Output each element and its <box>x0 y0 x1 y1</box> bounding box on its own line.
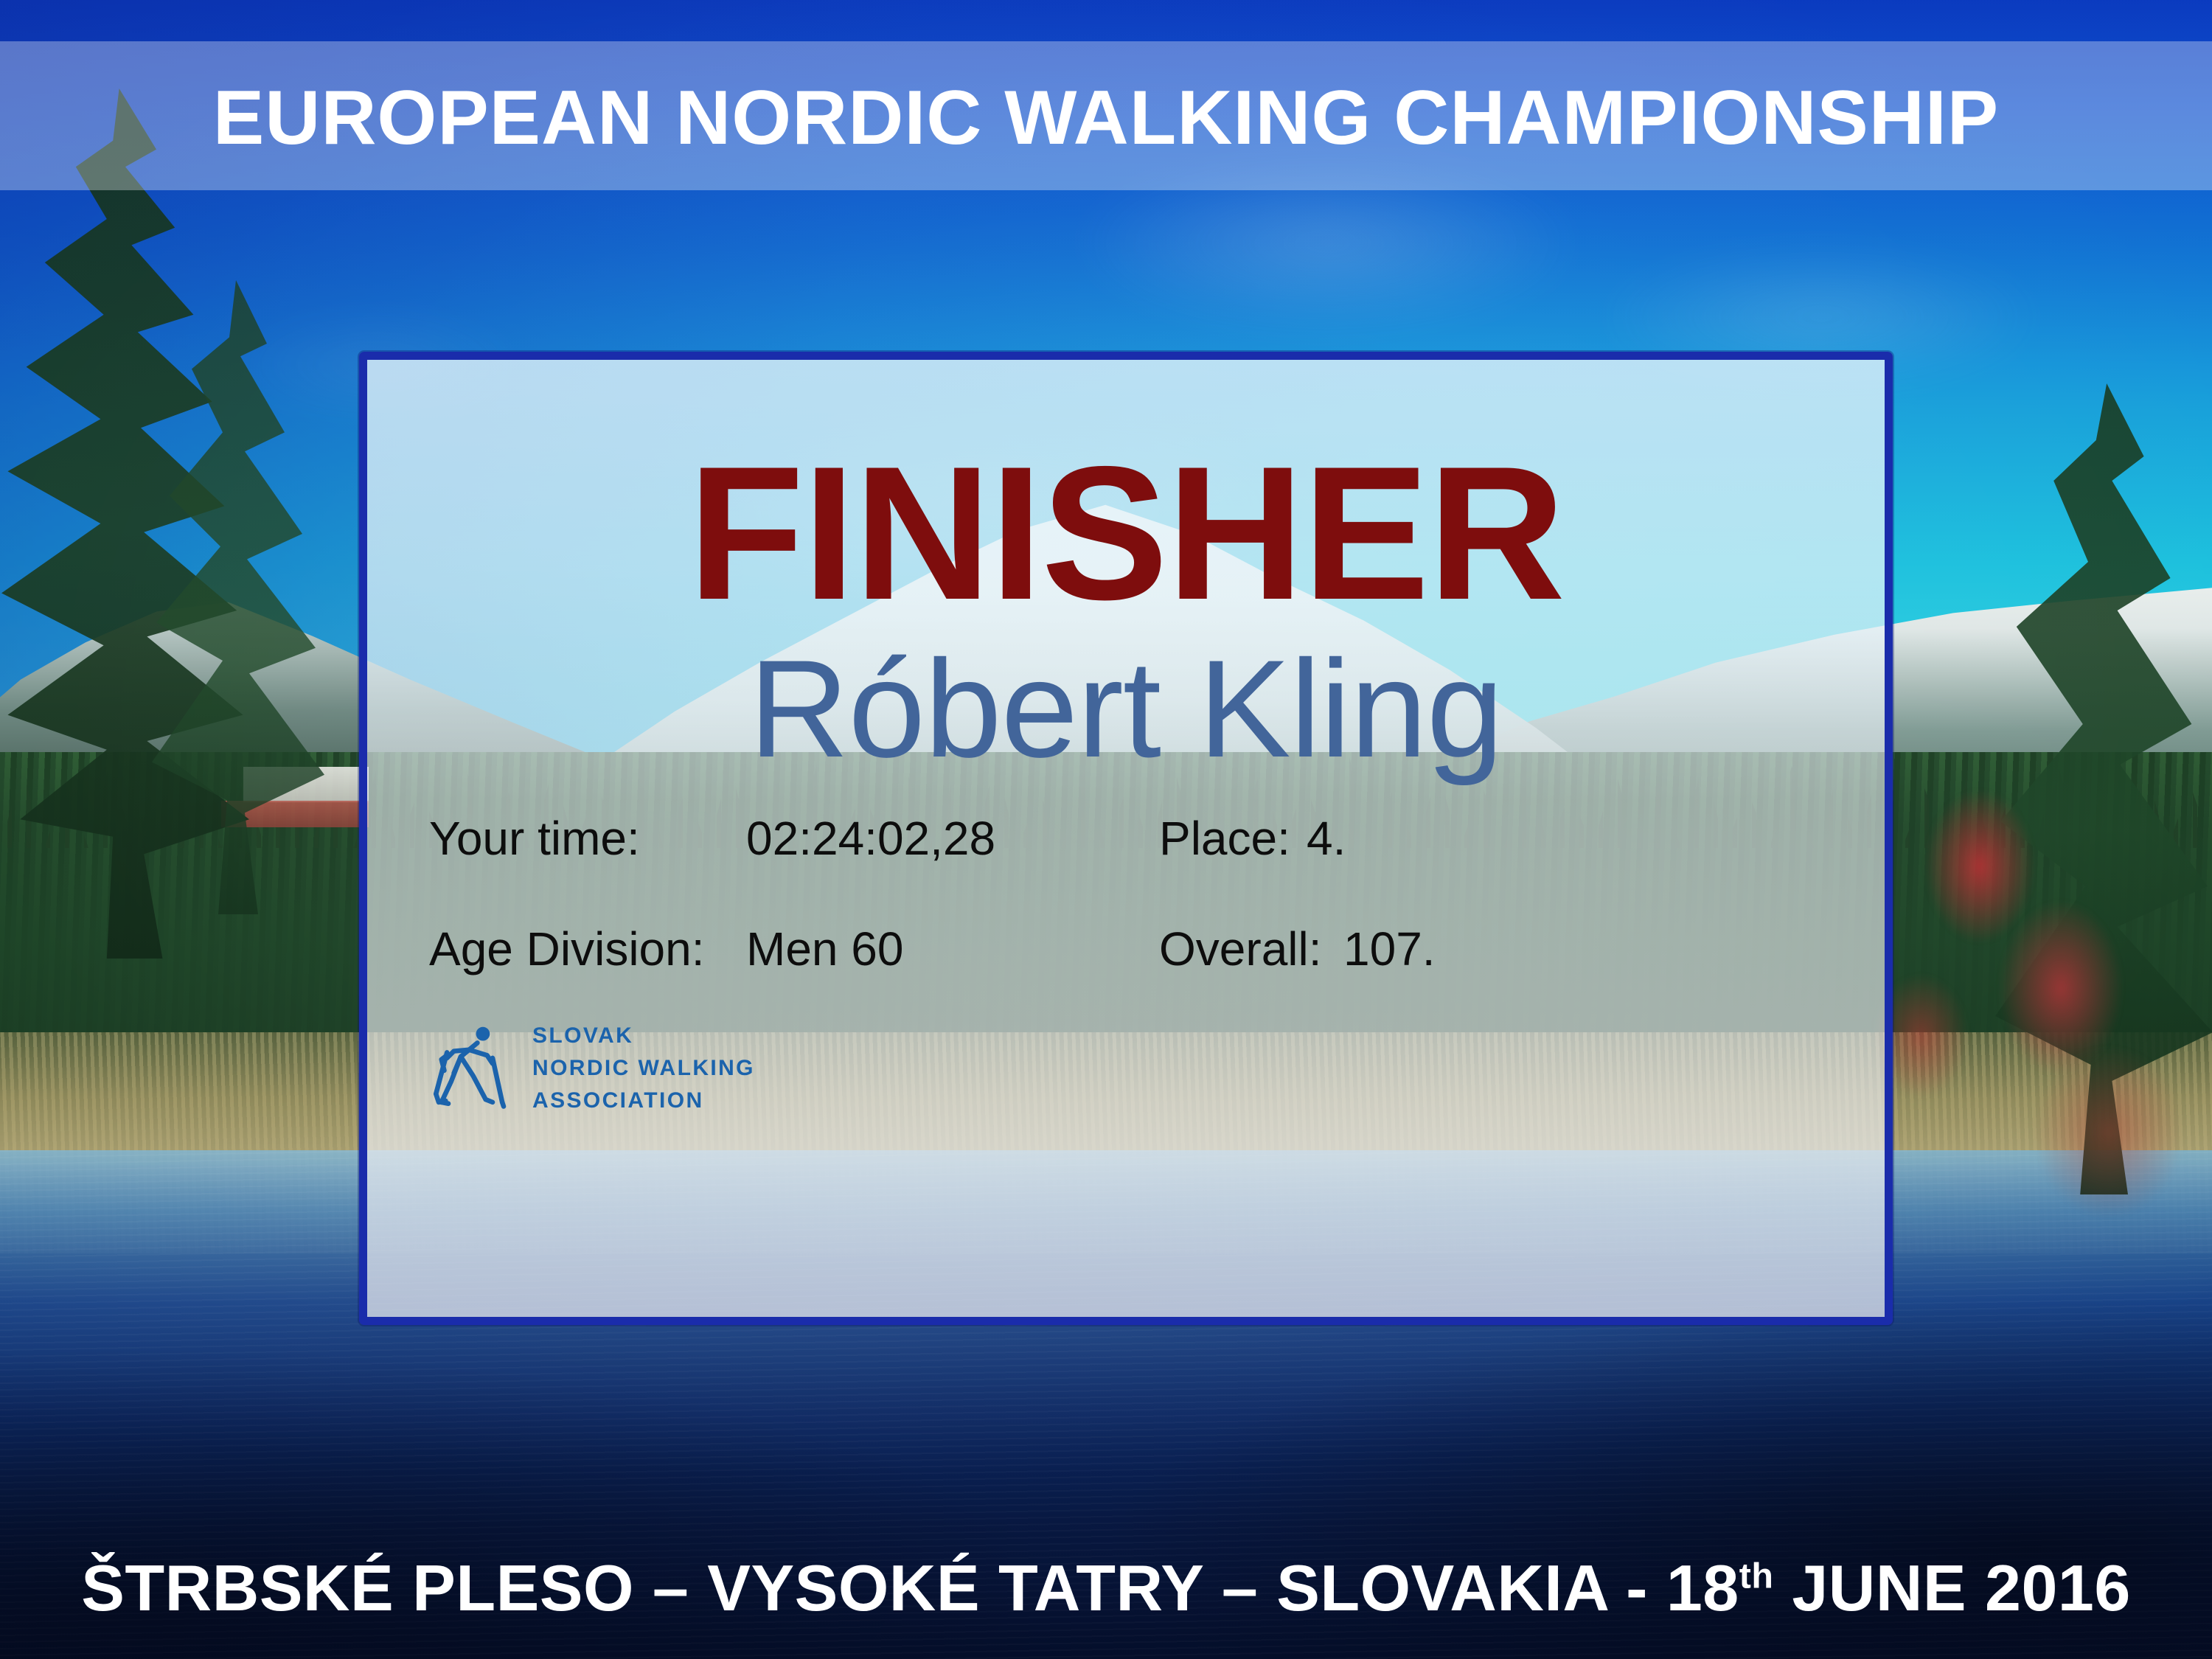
nordic-walker-icon <box>426 1025 516 1112</box>
finisher-headline: FINISHER <box>410 438 1842 628</box>
finisher-certificate-card: FINISHER Róbert Kling Your time: 02:24:0… <box>359 352 1893 1325</box>
logo-line-2: NORDIC WALKING <box>532 1052 755 1085</box>
age-division-label: Age Division: <box>429 925 746 973</box>
result-row: Your time: 02:24:02,28 Place: 4. <box>429 815 1827 862</box>
card-content: FINISHER Róbert Kling Your time: 02:24:0… <box>367 360 1885 1317</box>
event-title: EUROPEAN NORDIC WALKING CHAMPIONSHIP <box>213 75 1999 156</box>
location-text: ŠTRBSKÉ PLESO – VYSOKÉ TATRY – SLOVAKIA … <box>81 1551 1739 1624</box>
association-logo: SLOVAK NORDIC WALKING ASSOCIATION <box>426 1020 1842 1116</box>
date-text: JUNE 2016 <box>1773 1551 2130 1624</box>
logo-line-3: ASSOCIATION <box>532 1085 755 1117</box>
certificate-canvas: EUROPEAN NORDIC WALKING CHAMPIONSHIP FIN… <box>0 0 2212 1659</box>
time-value: 02:24:02,28 <box>746 815 1159 862</box>
result-stats: Your time: 02:24:02,28 Place: 4. Age Div… <box>410 815 1842 973</box>
date-ordinal-suffix: th <box>1739 1557 1774 1596</box>
result-row: Age Division: Men 60 Overall: 107. <box>429 925 1827 973</box>
place-label: Place: <box>1159 815 1307 862</box>
overall-label: Overall: <box>1159 925 1343 973</box>
time-label: Your time: <box>429 815 746 862</box>
footer-banner: ŠTRBSKÉ PLESO – VYSOKÉ TATRY – SLOVAKIA … <box>0 1556 2212 1621</box>
logo-line-1: SLOVAK <box>532 1020 755 1052</box>
athlete-name: Róbert Kling <box>410 636 1842 782</box>
age-division-value: Men 60 <box>746 925 1159 973</box>
overall-value: 107. <box>1343 925 1436 973</box>
header-banner: EUROPEAN NORDIC WALKING CHAMPIONSHIP <box>0 41 2212 190</box>
association-name: SLOVAK NORDIC WALKING ASSOCIATION <box>532 1020 755 1116</box>
place-value: 4. <box>1307 815 1346 862</box>
event-location-date: ŠTRBSKÉ PLESO – VYSOKÉ TATRY – SLOVAKIA … <box>81 1556 2131 1621</box>
